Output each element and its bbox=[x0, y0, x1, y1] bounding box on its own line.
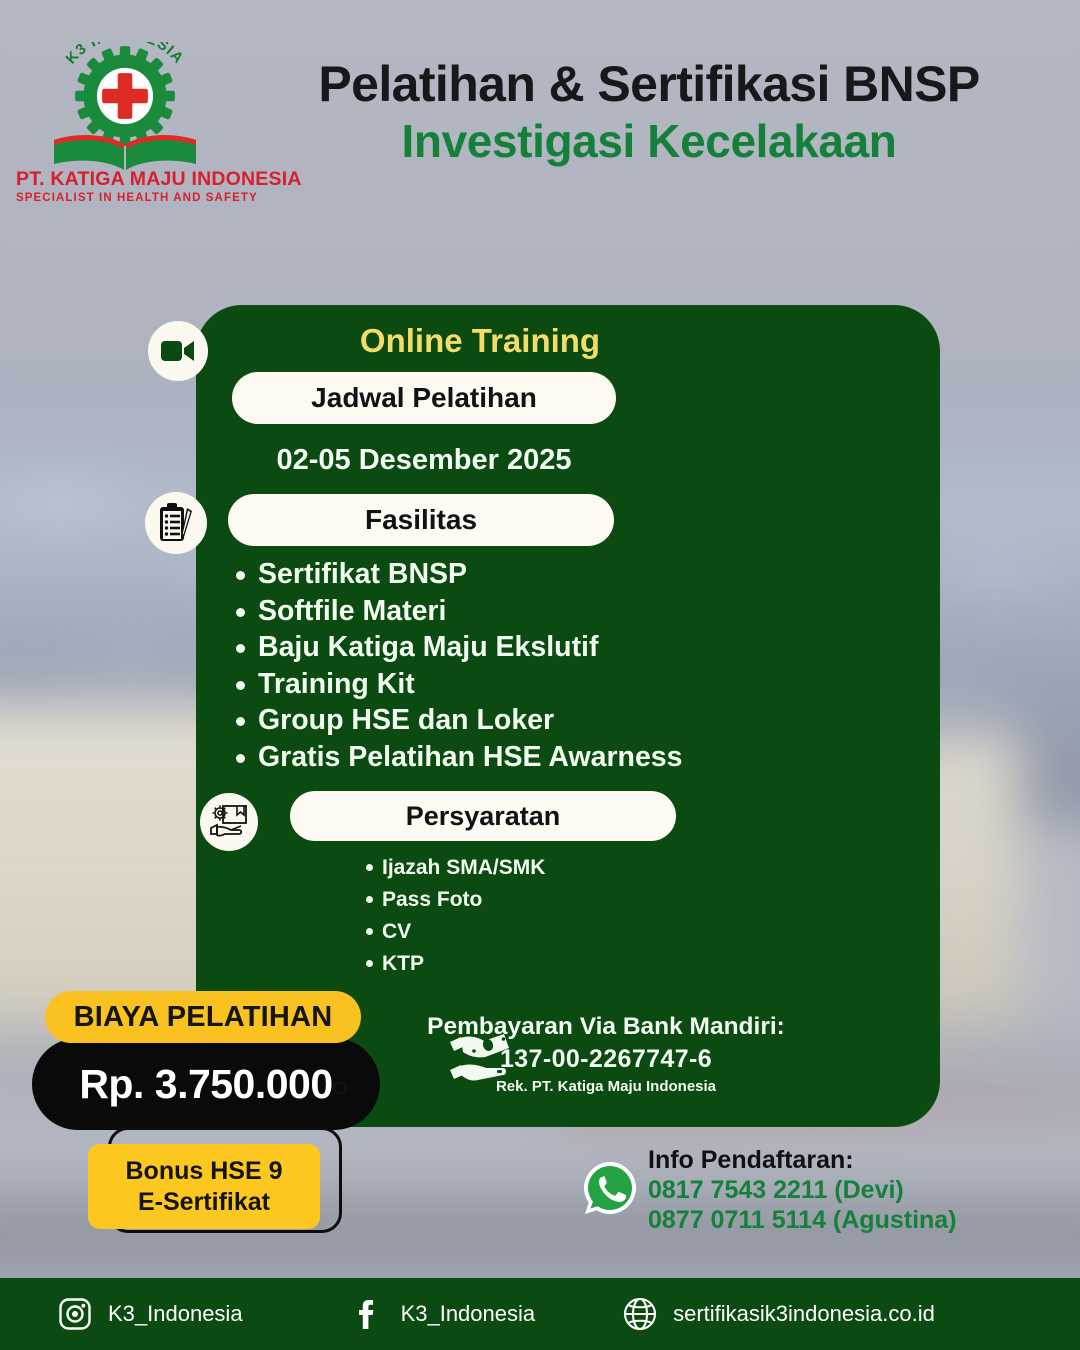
bonus-line-1: Bonus HSE 9 bbox=[126, 1156, 283, 1187]
title-main: Pelatihan & Sertifikasi BNSP bbox=[236, 58, 1062, 112]
whatsapp-icon[interactable] bbox=[582, 1160, 638, 1216]
footer-bar: K3_Indonesia K3_Indonesia bbox=[0, 1278, 1080, 1350]
list-item: CV bbox=[382, 916, 712, 948]
schedule-pill: Jadwal Pelatihan bbox=[232, 372, 616, 424]
footer-facebook-handle: K3_Indonesia bbox=[401, 1301, 536, 1327]
requirements-pill: Persyaratan bbox=[290, 791, 676, 841]
online-training-label: Online Training bbox=[250, 322, 710, 360]
clipboard-pen-icon bbox=[145, 492, 207, 554]
list-item: Baju Katiga Maju Ekslutif bbox=[258, 629, 768, 666]
list-item: Gratis Pelatihan HSE Awarness bbox=[258, 739, 768, 776]
hand-certificate-gear-glyph bbox=[209, 804, 249, 840]
list-item: Training Kit bbox=[258, 666, 768, 703]
footer-instagram-handle: K3_Indonesia bbox=[108, 1301, 243, 1327]
footer-instagram[interactable]: K3_Indonesia bbox=[56, 1295, 243, 1333]
requirements-list: Ijazah SMA/SMK Pass Foto CV KTP bbox=[360, 852, 712, 980]
poster-root: K3 INDONESIA bbox=[0, 0, 1080, 1350]
contact-phone-2[interactable]: 0877 0711 5114 (Agustina) bbox=[648, 1205, 957, 1235]
payment-title: Pembayaran Via Bank Mandiri: bbox=[316, 1012, 896, 1042]
title-sub: Investigasi Kecelakaan bbox=[236, 116, 1062, 168]
schedule-pill-label: Jadwal Pelatihan bbox=[311, 382, 537, 414]
price-amount-badge: Rp. 3.750.000 bbox=[32, 1038, 380, 1130]
list-item: Pass Foto bbox=[382, 884, 712, 916]
list-item: Group HSE dan Loker bbox=[258, 702, 768, 739]
schedule-date: 02-05 Desember 2025 bbox=[232, 444, 616, 477]
bonus-line-2: E-Sertifikat bbox=[138, 1187, 270, 1218]
video-camera-glyph bbox=[161, 339, 195, 363]
connector-dot bbox=[330, 1078, 350, 1098]
facilities-list: Sertifikat BNSP Softfile Materi Baju Kat… bbox=[224, 556, 768, 775]
page-title: Pelatihan & Sertifikasi BNSP Investigasi… bbox=[236, 58, 1062, 167]
hand-certificate-gear-icon bbox=[200, 793, 258, 851]
clipboard-pen-glyph bbox=[158, 503, 194, 543]
contact-phone-1[interactable]: 0817 7543 2211 (Devi) bbox=[648, 1175, 957, 1205]
logo-tagline: SPECIALIST IN HEALTH AND SAFETY bbox=[16, 192, 234, 204]
registration-contact: Info Pendaftaran: 0817 7543 2211 (Devi) … bbox=[648, 1145, 957, 1235]
list-item: Softfile Materi bbox=[258, 593, 768, 630]
contact-title: Info Pendaftaran: bbox=[648, 1145, 957, 1175]
footer-website[interactable]: sertifikasik3indonesia.co.id bbox=[621, 1295, 935, 1333]
open-book-icon bbox=[50, 130, 200, 172]
list-item: KTP bbox=[382, 948, 712, 980]
payment-account-number: 137-00-2267747-6 bbox=[316, 1042, 896, 1076]
facilities-pill-label: Fasilitas bbox=[365, 504, 477, 536]
payment-info: Pembayaran Via Bank Mandiri: 137-00-2267… bbox=[316, 1012, 896, 1098]
list-item: Sertifikat BNSP bbox=[258, 556, 768, 593]
video-camera-icon bbox=[148, 321, 208, 381]
facilities-pill: Fasilitas bbox=[228, 494, 614, 546]
header: K3 INDONESIA bbox=[0, 0, 1080, 205]
company-logo: K3 INDONESIA bbox=[16, 42, 234, 192]
facebook-icon bbox=[349, 1295, 387, 1333]
payment-account-holder: Rek. PT. Katiga Maju Indonesia bbox=[316, 1076, 896, 1098]
logo-company-name: PT. KATIGA MAJU INDONESIA bbox=[16, 168, 234, 191]
requirements-pill-label: Persyaratan bbox=[406, 801, 561, 832]
bonus-badge: Bonus HSE 9 E-Sertifikat bbox=[88, 1144, 320, 1229]
price-amount: Rp. 3.750.000 bbox=[32, 1038, 380, 1130]
price-label: BIAYA PELATIHAN bbox=[74, 1001, 333, 1034]
instagram-icon bbox=[56, 1295, 94, 1333]
price-label-badge: BIAYA PELATIHAN bbox=[45, 991, 361, 1043]
list-item: Ijazah SMA/SMK bbox=[382, 852, 712, 884]
footer-website-url: sertifikasik3indonesia.co.id bbox=[673, 1301, 935, 1327]
globe-icon bbox=[621, 1295, 659, 1333]
footer-facebook[interactable]: K3_Indonesia bbox=[349, 1295, 536, 1333]
